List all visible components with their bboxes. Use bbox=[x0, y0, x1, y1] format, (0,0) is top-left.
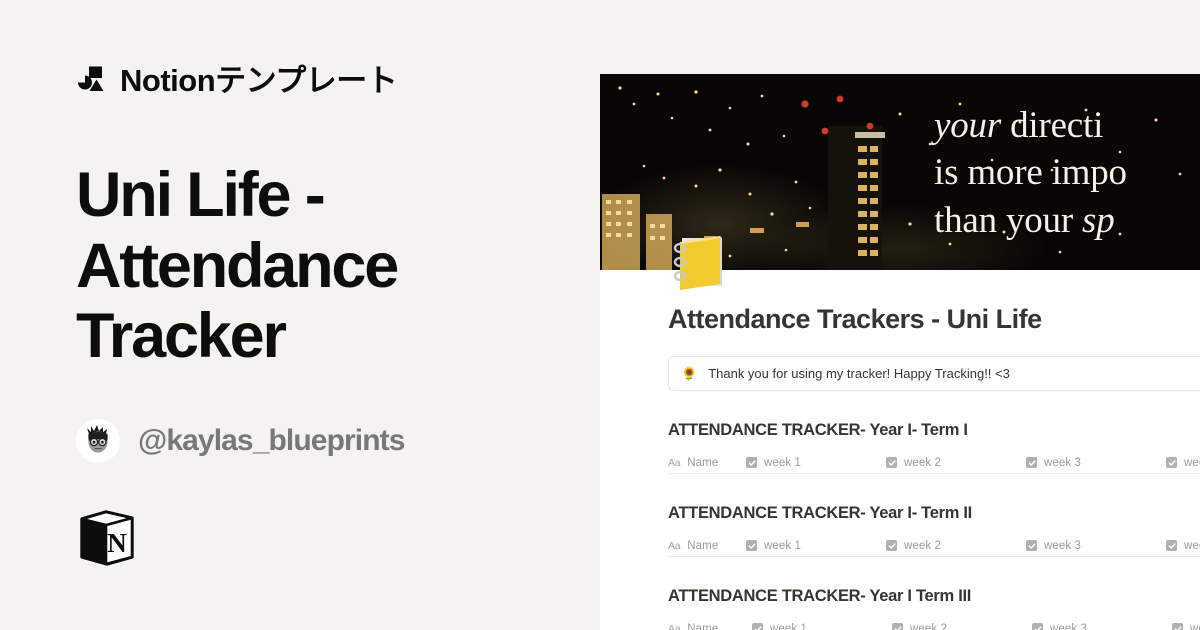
column-label: week 3 bbox=[1050, 623, 1087, 630]
column-week-1[interactable]: week 1 bbox=[746, 540, 886, 552]
notion-page-preview: your directi is more impo than your sp A… bbox=[600, 74, 1200, 630]
column-week-4[interactable]: week 4 bbox=[1172, 623, 1200, 630]
tracker-section: ATTENDANCE TRACKER- Year I- Term I Aa Na… bbox=[668, 421, 1200, 474]
tracker-section: ATTENDANCE TRACKER- Year I Term III Aa N… bbox=[668, 587, 1200, 630]
brand-header: Notionテンプレート bbox=[76, 58, 600, 102]
brand-name: Notionテンプレート bbox=[120, 65, 397, 96]
svg-text:N: N bbox=[107, 528, 127, 558]
checkbox-property-icon bbox=[752, 623, 763, 630]
quote-line-1-rest: directi bbox=[1001, 105, 1103, 146]
column-label: week 1 bbox=[764, 457, 801, 469]
text-property-icon: Aa bbox=[668, 457, 680, 469]
text-property-icon: Aa bbox=[668, 540, 680, 552]
callout-block: 🌻 Thank you for using my tracker! Happy … bbox=[668, 356, 1200, 391]
column-label: week 2 bbox=[904, 540, 941, 552]
section-heading: ATTENDANCE TRACKER- Year I- Term I bbox=[668, 421, 1200, 440]
column-label: Name bbox=[687, 457, 718, 469]
column-week-2[interactable]: week 2 bbox=[886, 540, 1026, 552]
checkbox-property-icon bbox=[892, 623, 903, 630]
column-week-3[interactable]: week 3 bbox=[1026, 540, 1166, 552]
avatar bbox=[76, 419, 120, 463]
column-week-1[interactable]: week 1 bbox=[746, 457, 886, 469]
tracker-section: ATTENDANCE TRACKER- Year I- Term II Aa N… bbox=[668, 504, 1200, 557]
section-heading: ATTENDANCE TRACKER- Year I- Term II bbox=[668, 504, 1200, 523]
column-week-4[interactable]: week 4 bbox=[1166, 457, 1200, 469]
column-name[interactable]: Aa Name bbox=[668, 457, 746, 469]
column-label: Name bbox=[687, 623, 718, 630]
column-label: week 3 bbox=[1044, 457, 1081, 469]
author-handle: @kaylas_blueprints bbox=[138, 424, 405, 458]
table-header-row: Aa Name week 1 week 2 week 3 week bbox=[668, 618, 1200, 630]
column-label: week 1 bbox=[764, 540, 801, 552]
column-week-1[interactable]: week 1 bbox=[752, 623, 892, 630]
checkbox-property-icon bbox=[1026, 540, 1037, 551]
column-label: week 1 bbox=[770, 623, 807, 630]
column-label: week 2 bbox=[910, 623, 947, 630]
notion-document-body: Attendance Trackers - Uni Life 🌻 Thank y… bbox=[600, 304, 1200, 630]
checkbox-property-icon bbox=[746, 540, 757, 551]
checkbox-property-icon bbox=[886, 540, 897, 551]
checkbox-property-icon bbox=[1032, 623, 1043, 630]
quote-line-3-italic: sp bbox=[1082, 200, 1115, 241]
column-label: week 4 bbox=[1184, 457, 1200, 469]
callout-text: Thank you for using my tracker! Happy Tr… bbox=[708, 366, 1010, 381]
checkbox-property-icon bbox=[1026, 457, 1037, 468]
column-label: Name bbox=[687, 540, 718, 552]
column-label: week 4 bbox=[1184, 540, 1200, 552]
column-name[interactable]: Aa Name bbox=[668, 623, 752, 630]
quote-line-2: is more impo bbox=[934, 149, 1200, 196]
quote-line-3-rest: than your bbox=[934, 200, 1082, 241]
checkbox-property-icon bbox=[746, 457, 757, 468]
cartoon-face-avatar-icon bbox=[78, 421, 118, 461]
text-property-icon: Aa bbox=[668, 623, 680, 630]
sunflower-icon: 🌻 bbox=[681, 367, 697, 380]
quote-line-1-italic: your bbox=[934, 105, 1001, 146]
notion-page-title: Attendance Trackers - Uni Life bbox=[668, 304, 1200, 335]
section-heading: ATTENDANCE TRACKER- Year I Term III bbox=[668, 587, 1200, 606]
author-row[interactable]: @kaylas_blueprints bbox=[76, 419, 600, 463]
column-week-4[interactable]: week 4 bbox=[1166, 540, 1200, 552]
yellow-notebook-emoji-icon bbox=[668, 234, 730, 292]
checkbox-property-icon bbox=[1166, 540, 1177, 551]
checkbox-property-icon bbox=[1166, 457, 1177, 468]
column-week-3[interactable]: week 3 bbox=[1026, 457, 1166, 469]
table-header-row: Aa Name week 1 week 2 week 3 week bbox=[668, 535, 1200, 557]
cover-quote: your directi is more impo than your sp bbox=[934, 102, 1200, 244]
checkbox-property-icon bbox=[886, 457, 897, 468]
column-week-3[interactable]: week 3 bbox=[1032, 623, 1172, 630]
column-label: week 3 bbox=[1044, 540, 1081, 552]
checkbox-property-icon bbox=[1172, 623, 1183, 630]
column-name[interactable]: Aa Name bbox=[668, 540, 746, 552]
column-label: week 2 bbox=[904, 457, 941, 469]
table-header-row: Aa Name week 1 week 2 week 3 week bbox=[668, 452, 1200, 474]
column-week-2[interactable]: week 2 bbox=[892, 623, 1032, 630]
hero-panel: Notionテンプレート Uni Life - Attendance Track… bbox=[0, 0, 600, 630]
page-title: Uni Life - Attendance Tracker bbox=[76, 160, 506, 372]
notion-cube-logo-icon: N bbox=[76, 507, 138, 569]
notion-template-mark-icon bbox=[76, 65, 106, 95]
column-week-2[interactable]: week 2 bbox=[886, 457, 1026, 469]
column-label: week 4 bbox=[1190, 623, 1200, 630]
